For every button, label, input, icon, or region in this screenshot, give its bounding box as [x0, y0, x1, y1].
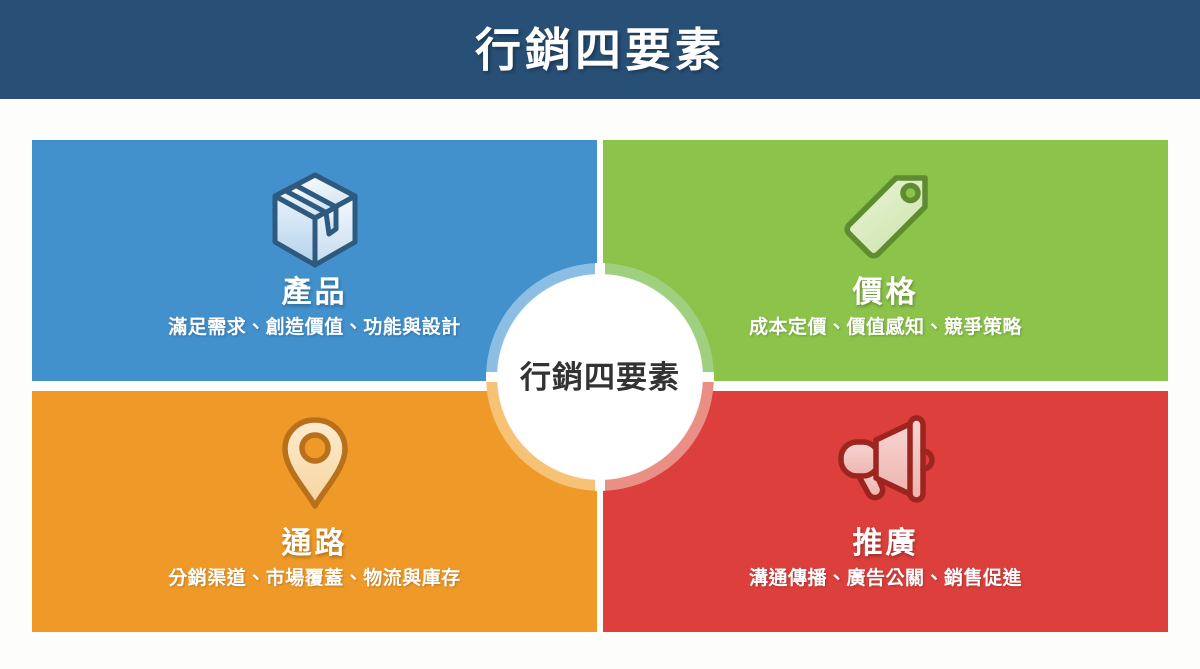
quadrant-title: 推廣: [853, 527, 919, 560]
infographic-slide: 行銷四要素: [0, 0, 1200, 669]
center-disc: 行銷四要素: [498, 275, 702, 479]
price-tag-icon: [836, 168, 936, 272]
map-pin-icon: [275, 411, 355, 515]
quadrant-title: 通路: [282, 527, 348, 560]
megaphone-icon: [834, 411, 938, 515]
box-icon: [266, 168, 364, 272]
quadrant-title: 產品: [282, 276, 348, 309]
quadrant-description: 溝通傳播、廣告公關、銷售促進: [749, 568, 1022, 591]
center-hub[interactable]: 行銷四要素: [486, 263, 714, 491]
center-label: 行銷四要素: [520, 362, 680, 393]
quadrant-description: 滿足需求、創造價值、功能與設計: [168, 317, 461, 340]
header-bar: 行銷四要素: [0, 0, 1200, 99]
quadrant-description: 成本定價、價值感知、競爭策略: [749, 317, 1022, 340]
quadrant-description: 分銷渠道、市場覆蓋、物流與庫存: [168, 568, 461, 591]
quadrant-title: 價格: [853, 276, 919, 309]
page-title: 行銷四要素: [475, 27, 725, 73]
